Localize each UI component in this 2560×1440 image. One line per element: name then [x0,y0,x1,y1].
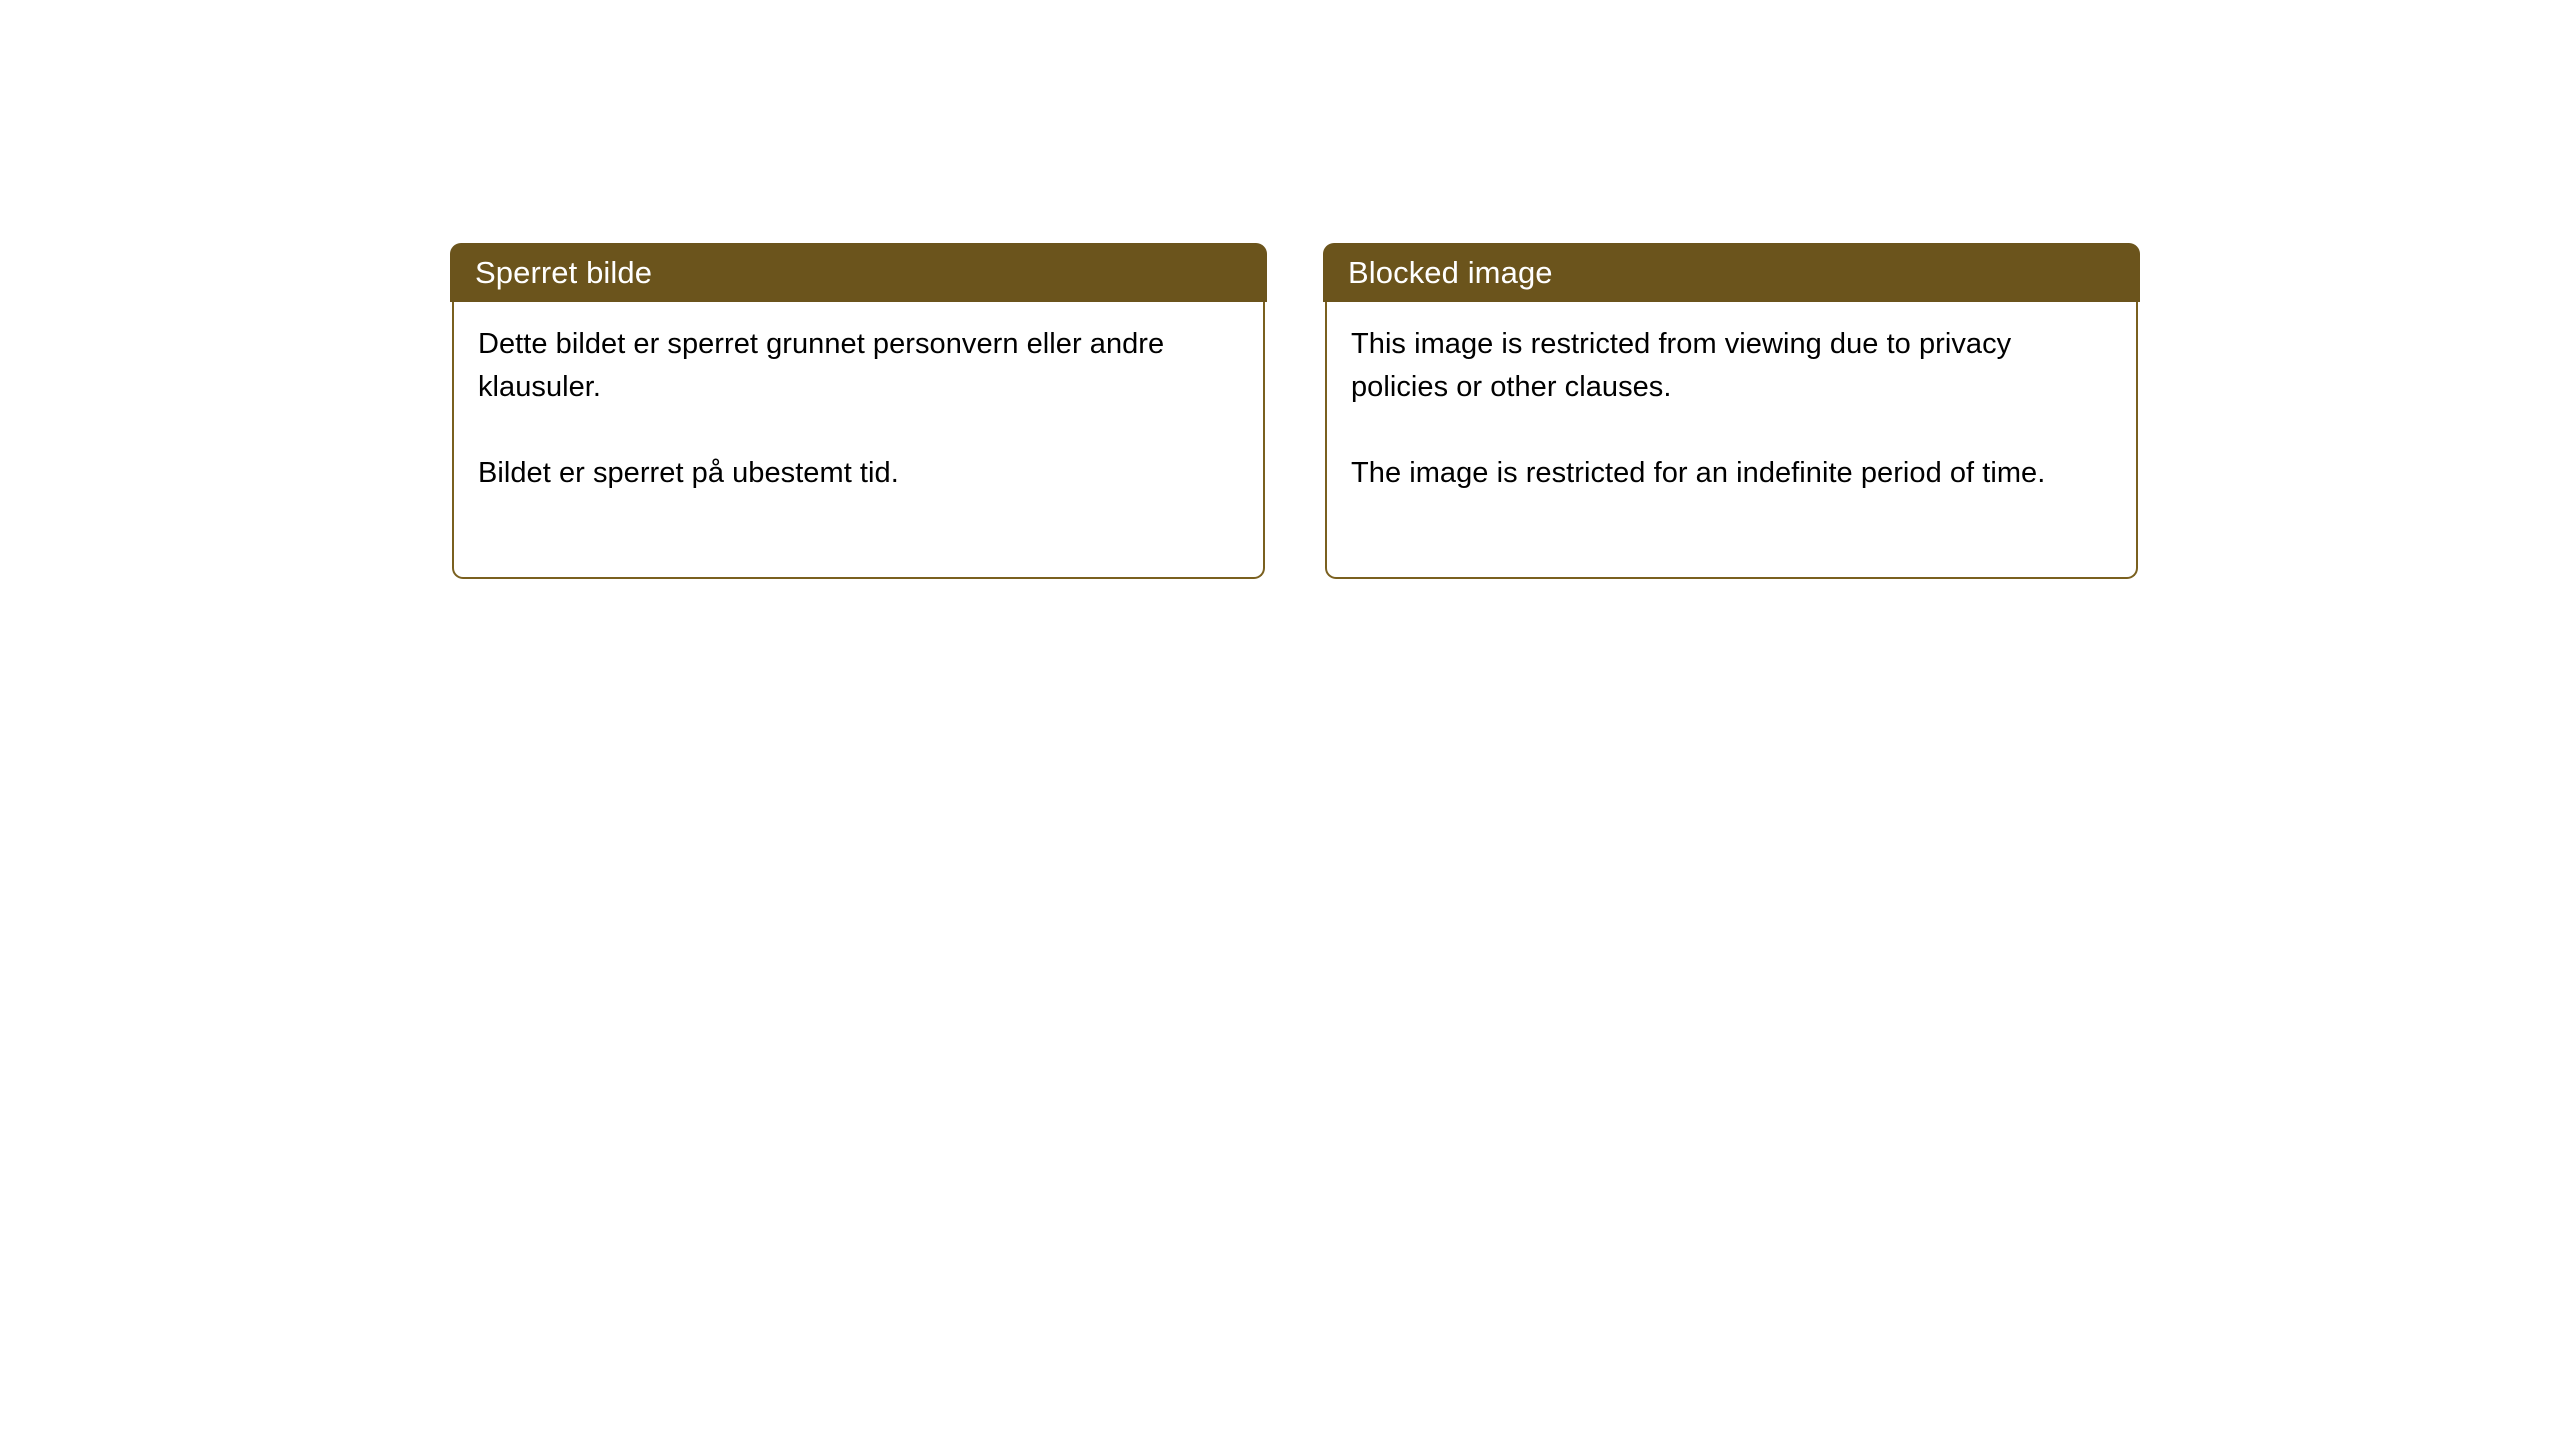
page-canvas: Sperret bilde Dette bildet er sperret gr… [0,0,2560,1440]
notice-paragraph-duration: Bildet er sperret på ubestemt tid. [478,452,1239,495]
notice-paragraph-reason: Dette bildet er sperret grunnet personve… [478,323,1239,409]
notice-title: Sperret bilde [475,257,652,288]
blocked-image-notice-english: Blocked image This image is restricted f… [1325,243,2138,579]
notice-title: Blocked image [1348,257,1553,288]
blocked-image-notice-norwegian: Sperret bilde Dette bildet er sperret gr… [452,243,1265,579]
notice-header-bar: Sperret bilde [450,243,1267,302]
notice-paragraph-reason: This image is restricted from viewing du… [1351,323,2112,409]
notice-body: This image is restricted from viewing du… [1325,301,2138,579]
notice-header-bar: Blocked image [1323,243,2140,302]
notice-paragraph-duration: The image is restricted for an indefinit… [1351,452,2112,495]
notice-body: Dette bildet er sperret grunnet personve… [452,301,1265,579]
